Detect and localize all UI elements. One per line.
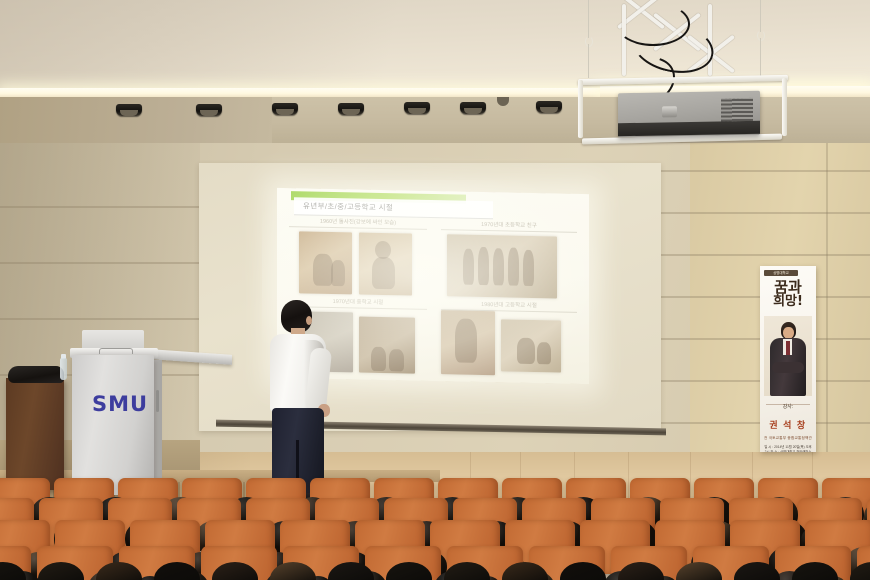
wall-panel-seam [826, 143, 828, 453]
presenter-ear [306, 316, 312, 325]
banner-headline-line2: 희망! [760, 295, 816, 309]
slide-photo-group [289, 231, 427, 298]
banner-speaker-tie [786, 341, 790, 355]
spotlight-icon [272, 103, 298, 115]
ceiling-projector [618, 91, 760, 137]
lectern-podium [72, 355, 154, 495]
slide-quadrant: 1980년대 고등학교 시절 [441, 299, 577, 381]
spotlight-icon [536, 101, 562, 113]
event-banner: 상명대학교 꿈과 희망! 강사: 권 석 창 전 국토교통부 종합교통정책관 일… [760, 266, 816, 452]
projector-mount-plate [578, 75, 788, 85]
banner-speaker-name: 권 석 창 [769, 418, 806, 431]
wall-panel-line [0, 318, 200, 320]
water-bottle [60, 358, 67, 380]
auditorium-photo: 유년부/초/중/고등학교 시절 1960년 돌사진(강보에 싸인 모습) [0, 0, 870, 580]
banner-event-info: 일 시 : 2014년 11월 20일(목) 오후 2시 장 소 : 상명대학교… [763, 445, 813, 452]
podium-logo: SMU [92, 394, 140, 415]
projector-vent [721, 98, 753, 122]
spotlight-icon [404, 102, 430, 114]
slide-quadrant: 1960년 돌사진(강보에 싸인 모습) [289, 216, 427, 298]
wall-panel-line [660, 212, 870, 214]
spotlight-icon [460, 102, 486, 114]
projector-base [618, 121, 760, 136]
banner-speaker-arms [772, 362, 804, 373]
projector-lens-icon [662, 106, 677, 117]
spotlight-icon [116, 104, 142, 116]
banner-tag-text: 상명대학교 [765, 270, 797, 276]
slide-title: 유년부/초/중/고등학교 시절 [303, 200, 393, 213]
projector-rig [560, 0, 860, 150]
projector-frame-post [782, 78, 787, 136]
slide-photo [359, 317, 415, 374]
projector-frame-post [578, 80, 583, 138]
banner-speaker-affiliation: 전 국토교통부 종합교통정책관 [763, 436, 813, 441]
slide-photo [447, 234, 557, 298]
banner-headline: 꿈과 희망! [760, 280, 816, 309]
slide-photo [441, 310, 495, 375]
spotlight-icon [338, 103, 364, 115]
podium-handle [99, 348, 133, 354]
slide-quadrant-caption: 1960년 돌사진(강보에 싸인 모습) [289, 216, 427, 230]
slide-photo [359, 233, 412, 296]
podium-slot [156, 390, 159, 412]
slide-photo-group [441, 314, 577, 381]
spotlight-icon [196, 104, 222, 116]
banner-speaker-block: 강사: 권 석 창 전 국토교통부 종합교통정책관 일 시 : 2014년 11… [763, 398, 813, 452]
banner-headline-line1: 꿈과 [760, 280, 816, 295]
slide-photo-group [441, 234, 577, 301]
wall-panel-line [0, 262, 200, 264]
slide-quadrant-caption: 1970년대 초등학교 친구 [441, 219, 577, 233]
presenter [258, 300, 338, 505]
wall-panel-line [660, 254, 870, 256]
wooden-cabinet [6, 378, 64, 490]
slide-quadrant: 1970년대 초등학교 친구 [441, 219, 577, 301]
slide-photo [299, 231, 352, 294]
coat-on-cabinet [8, 366, 64, 383]
slide-photo [501, 319, 561, 372]
wall-panel-line [0, 206, 200, 208]
wall-panel-line [660, 170, 870, 172]
banner-speaker-label: 강사: [783, 403, 794, 410]
banner-speaker-photo [764, 316, 812, 396]
